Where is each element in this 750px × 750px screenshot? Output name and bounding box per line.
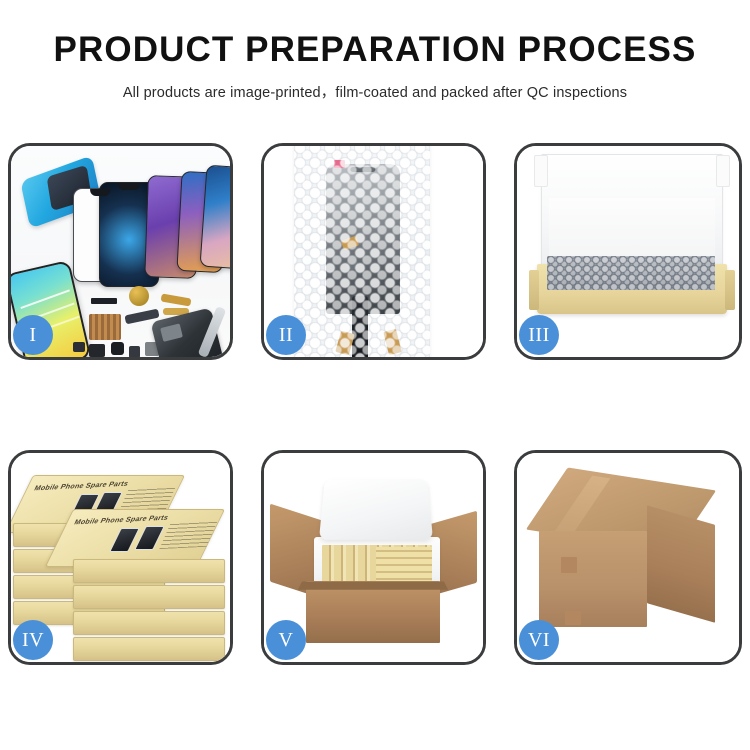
foam-cooler-lid [319,479,433,539]
process-step-grid: I II [8,143,742,665]
yellow-boxes-inside-2 [376,547,432,585]
carton-tab-lower [565,611,581,625]
step-badge-3: III [519,315,559,355]
carton-tab-upper [561,557,577,573]
process-step-panel-6: VI [514,450,742,665]
speaker-mesh-part [91,298,117,304]
stacked-box [73,585,225,609]
stacked-box [73,611,225,635]
notch-icon [90,189,110,196]
page-subtitle: All products are image-printed，film-coat… [0,81,750,102]
chip-part [73,342,85,352]
step-badge-6: VI [519,620,559,660]
carton-body [306,581,440,643]
step-badge-4: IV [13,620,53,660]
wrapped-screen [326,164,400,314]
stacked-box [73,637,225,661]
vibration-motor-part [129,286,149,306]
connector-board-part [89,314,121,340]
pink-label-sticker [334,160,345,168]
page-header: PRODUCT PREPARATION PROCESS All products… [0,0,750,102]
process-step-panel-5: V [261,450,486,665]
box-label-text: Mobile Phone Spare Parts [33,481,129,493]
box-spec-lines [159,521,217,549]
box-label-text: Mobile Phone Spare Parts [73,515,169,527]
page-title: PRODUCT PREPARATION PROCESS [0,32,750,69]
camera-module-part [111,342,124,355]
process-step-panel-4: Mobile Phone Spare Parts Mobi [8,450,233,665]
bubble-wrapped-contents [547,256,715,290]
process-step-panel-3: III [514,143,742,360]
screen-flex-cable [352,296,368,357]
step-badge-2: II [266,315,306,355]
carton-side-face [647,505,715,622]
step-badge-5: V [266,620,306,660]
stacked-box [73,559,225,583]
loudspeaker-part [89,344,105,357]
step-badge-1: I [13,315,53,355]
process-step-panel-2: II [261,143,486,360]
process-step-panel-1: I [8,143,233,360]
driver-ic-part [346,258,358,270]
button-part [129,346,140,357]
carton-front-face [539,531,647,627]
notch-icon [118,183,140,190]
